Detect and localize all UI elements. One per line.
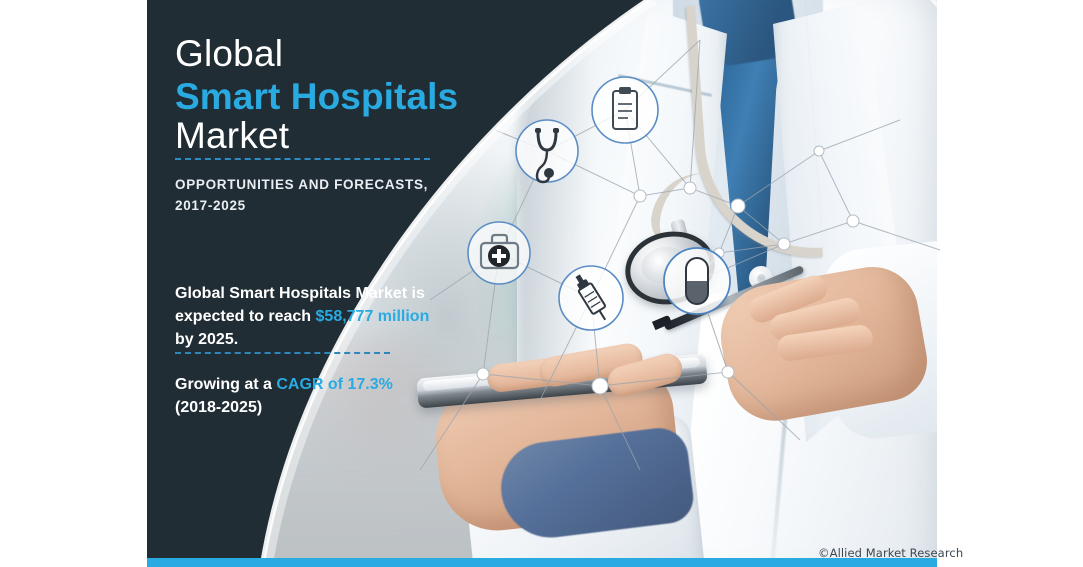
clipboard-icon [592,77,658,143]
statement-lead: Global Smart Hospitals Market is [175,285,425,302]
network-node [778,238,790,250]
divider-top [175,158,430,160]
title-line-global: Global [175,33,283,75]
title-line-market: Market [175,115,289,157]
network-node [847,215,859,227]
network-node [592,378,608,394]
pill-capsule-icon [664,248,730,314]
title-line-smart-hospitals: Smart Hospitals [175,76,458,118]
subtitle-line-1: OPPORTUNITIES AND FORECASTS, [175,177,428,192]
infographic-canvas: Global Smart Hospitals Market OPPORTUNIT… [0,0,1083,567]
cagr-statement: Growing at a CAGR of 17.3% (2018-2025) [175,373,455,419]
network-node [722,366,734,378]
subtitle-line-2: 2017-2025 [175,198,246,213]
headline-block: Global Smart Hospitals Market OPPORTUNIT… [0,0,520,567]
cagr-period: (2018-2025) [175,399,262,416]
stethoscope-icon [516,120,578,182]
cagr-prefix: Growing at a [175,376,276,393]
network-node [634,190,646,202]
cagr-highlight: CAGR of 17.3% [276,376,392,393]
statement-lead-2: expected to reach [175,308,311,325]
bottom-accent-bar [147,558,937,567]
network-node [731,199,745,213]
network-node [684,182,696,194]
network-node [814,146,824,156]
syringe-icon [559,266,623,330]
market-value-highlight: $58,777 million [316,308,430,325]
divider-middle [175,352,390,354]
subtitle: OPPORTUNITIES AND FORECASTS, 2017-2025 [175,174,465,216]
statement-trailing: by 2025. [175,331,238,348]
market-value-statement: Global Smart Hospitals Market is expecte… [175,282,450,351]
